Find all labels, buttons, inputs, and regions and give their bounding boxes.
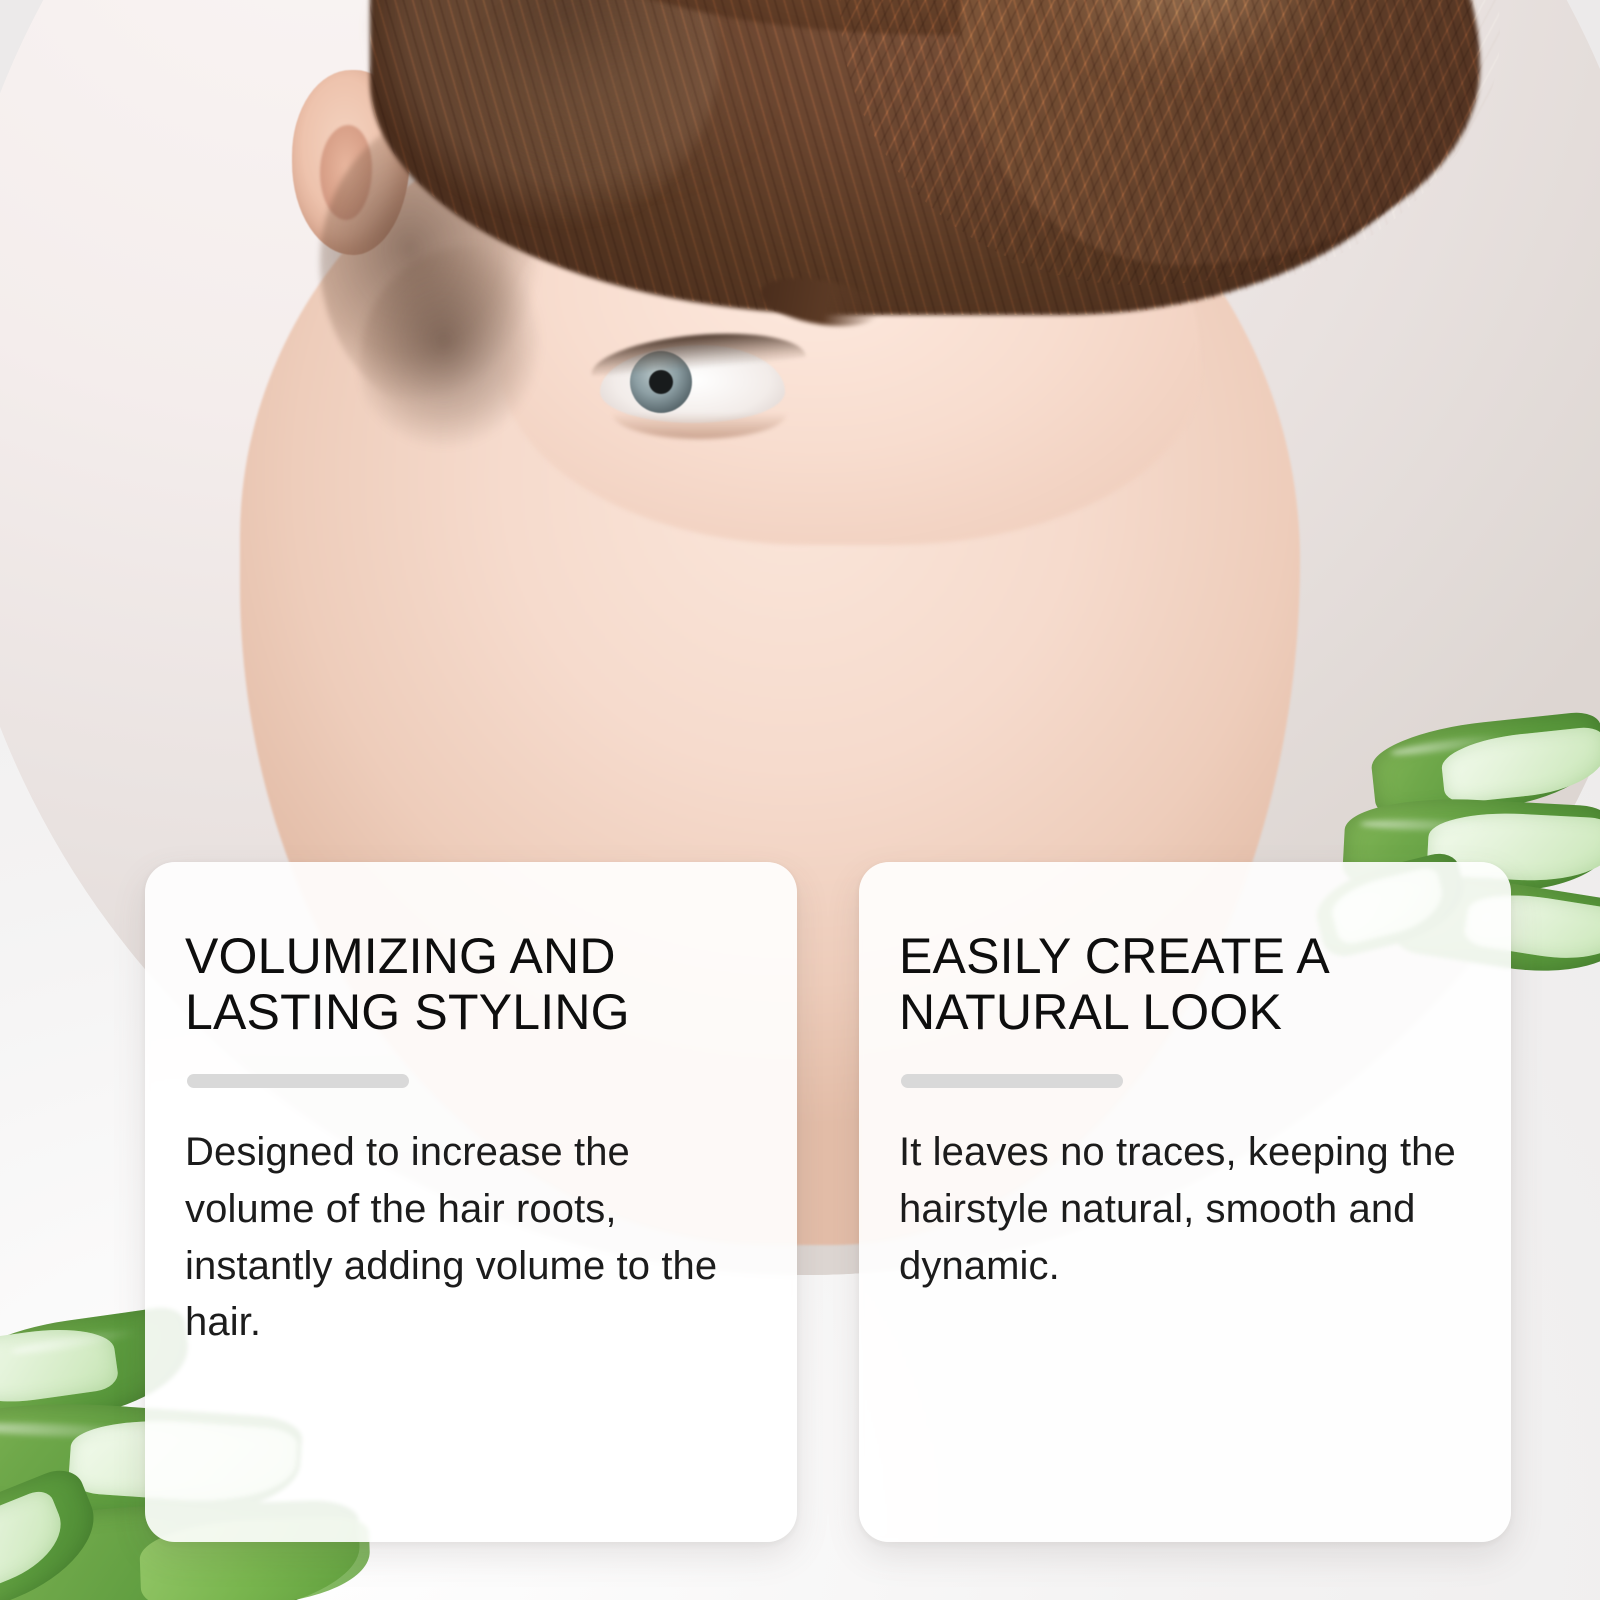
feature-card-body: It leaves no traces, keeping the hairsty… xyxy=(899,1124,1459,1294)
feature-card-volumizing[interactable]: VOLUMIZING AND LASTING STYLING Designed … xyxy=(145,862,797,1542)
infographic-canvas: Close-up of a man with volumized brown h… xyxy=(0,0,1600,1600)
title-divider-bar xyxy=(901,1074,1123,1088)
hair-strand-texture-fringe xyxy=(840,0,1500,285)
feature-card-body: Designed to increase the volume of the h… xyxy=(185,1124,745,1351)
feature-card-list: VOLUMIZING AND LASTING STYLING Designed … xyxy=(145,862,1511,1542)
feature-card-title: EASILY CREATE A NATURAL LOOK xyxy=(899,928,1459,1040)
feature-card-title: VOLUMIZING AND LASTING STYLING xyxy=(185,928,745,1040)
pupil xyxy=(649,370,673,394)
feature-card-natural-look[interactable]: EASILY CREATE A NATURAL LOOK It leaves n… xyxy=(859,862,1511,1542)
hairline-softening xyxy=(370,0,790,265)
title-divider-bar xyxy=(187,1074,409,1088)
